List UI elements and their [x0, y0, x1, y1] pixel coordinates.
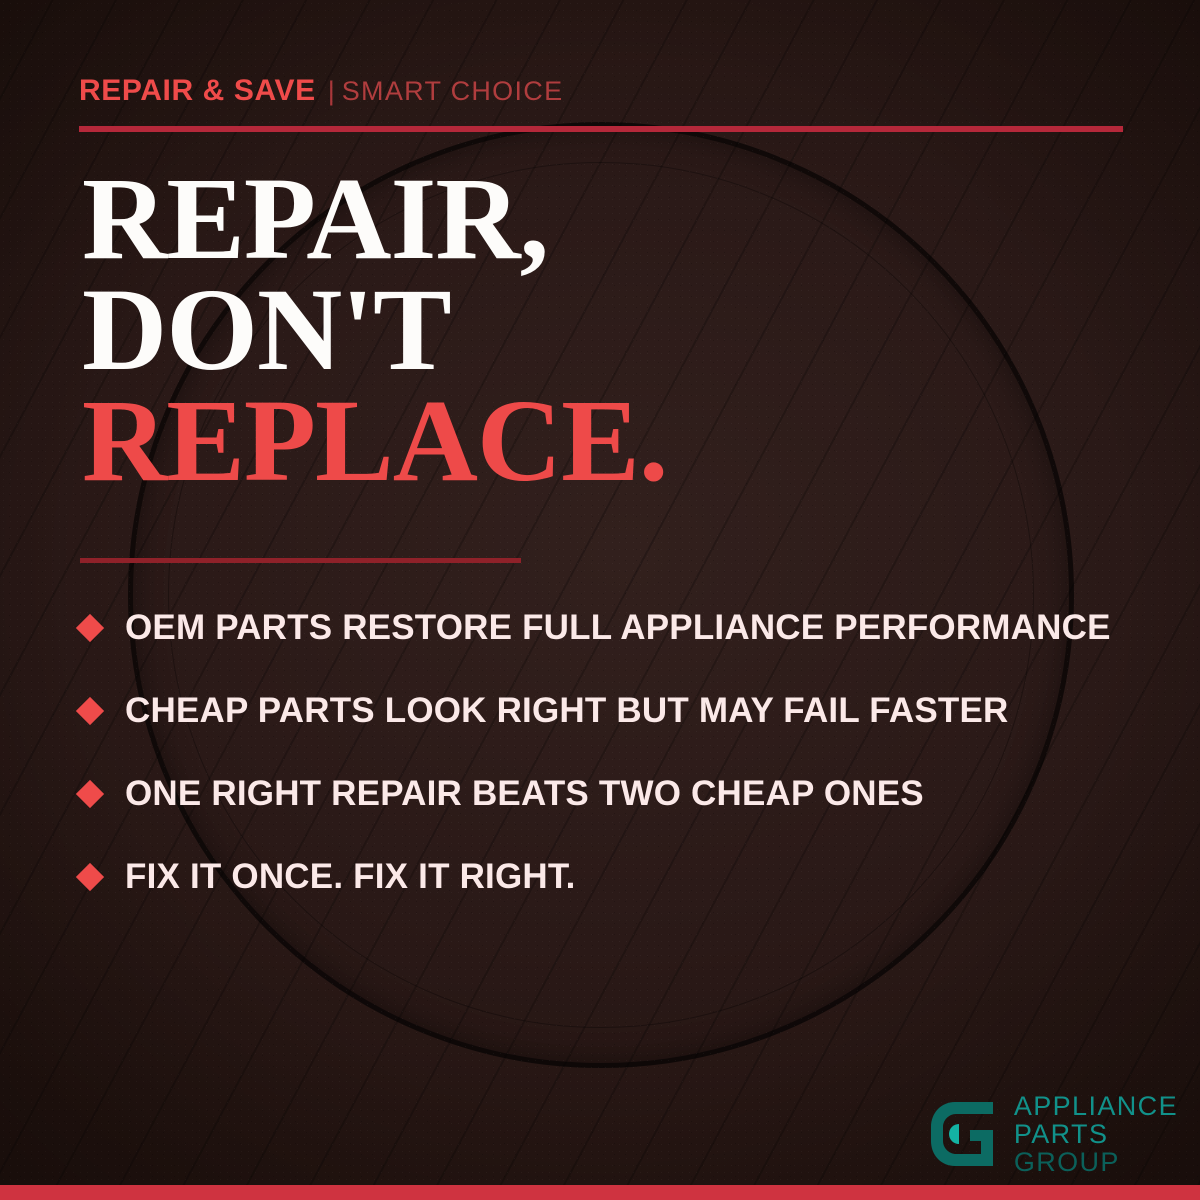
- eyebrow-header: REPAIR & SAVE | SMART CHOICE: [79, 74, 563, 108]
- list-item-label: FIX IT ONCE. FIX IT RIGHT.: [125, 857, 576, 897]
- brand-word-group: GROUP: [1014, 1148, 1178, 1176]
- list-item-label: OEM PARTS RESTORE FULL APPLIANCE PERFORM…: [125, 608, 1111, 648]
- g-monogram-icon: [925, 1096, 1001, 1172]
- eyebrow-main-text: REPAIR & SAVE: [79, 74, 316, 108]
- headline: REPAIR, DON'T REPLACE.: [82, 163, 667, 496]
- benefit-list: OEM PARTS RESTORE FULL APPLIANCE PERFORM…: [80, 586, 1150, 918]
- list-item: CHEAP PARTS LOOK RIGHT BUT MAY FAIL FAST…: [80, 669, 1150, 752]
- header-divider-rule: [79, 126, 1123, 132]
- eyebrow-sub-text: SMART CHOICE: [342, 76, 564, 107]
- diamond-bullet-icon: [76, 613, 104, 641]
- brand-logo: APPLIANCE PARTS GROUP: [925, 1092, 1178, 1176]
- headline-divider-rule: [80, 558, 521, 563]
- headline-line-3: REPLACE.: [82, 385, 667, 496]
- headline-line-1: REPAIR,: [82, 163, 667, 274]
- bottom-accent-strip: [0, 1185, 1200, 1200]
- headline-line-2: DON'T: [82, 274, 667, 385]
- diamond-bullet-icon: [76, 862, 104, 890]
- eyebrow-separator: |: [328, 76, 335, 107]
- brand-word-appliance: APPLIANCE: [1014, 1092, 1178, 1120]
- promo-poster: REPAIR & SAVE | SMART CHOICE REPAIR, DON…: [0, 0, 1200, 1200]
- diamond-bullet-icon: [76, 696, 104, 724]
- list-item: ONE RIGHT REPAIR BEATS TWO CHEAP ONES: [80, 752, 1150, 835]
- brand-word-parts: PARTS: [1014, 1120, 1178, 1148]
- brand-logo-wordmark: APPLIANCE PARTS GROUP: [1014, 1092, 1178, 1176]
- diamond-bullet-icon: [76, 779, 104, 807]
- list-item-label: ONE RIGHT REPAIR BEATS TWO CHEAP ONES: [125, 774, 924, 814]
- list-item: OEM PARTS RESTORE FULL APPLIANCE PERFORM…: [80, 586, 1150, 669]
- list-item-label: CHEAP PARTS LOOK RIGHT BUT MAY FAIL FAST…: [125, 691, 1009, 731]
- list-item: FIX IT ONCE. FIX IT RIGHT.: [80, 835, 1150, 918]
